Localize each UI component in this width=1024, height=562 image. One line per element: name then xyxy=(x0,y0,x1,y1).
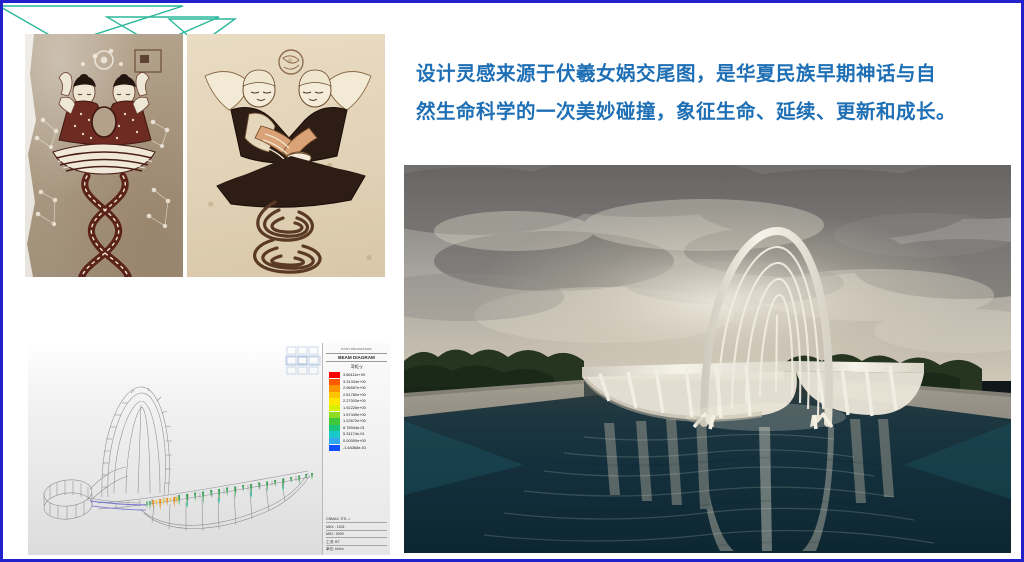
legend-band-swatch xyxy=(329,379,340,385)
legend-band: 1.57449e+00 xyxy=(329,412,390,419)
legend-band-swatch xyxy=(329,392,340,398)
legend-band-value: 3.66111e+00 xyxy=(343,372,365,378)
legend-footer-line: 工況: BT xyxy=(326,537,387,545)
legend-unit: 弯矩-y xyxy=(323,363,390,370)
slide-canvas: 设计灵感来源于伏羲女娲交尾图，是华夏民族早期神话与自 然生命科学的一次美妙碰撞，… xyxy=(0,0,1024,562)
legend-band-swatch xyxy=(329,372,340,378)
legend-band: 2.61780e+00 xyxy=(329,392,390,399)
legend-band-value: 0.00000e+00 xyxy=(343,438,366,444)
legend-band-swatch xyxy=(329,412,340,418)
legend-band-swatch xyxy=(329,418,340,424)
legend-footer-line: MIN : 3099 xyxy=(326,530,387,538)
legend-title: POST PROCESSOR xyxy=(323,343,390,352)
legend-band-value: 3.31334e+00 xyxy=(343,379,366,385)
legend-band: 8.78944e-01 xyxy=(329,425,390,432)
legend-band-value: 2.96557e+00 xyxy=(343,385,366,391)
legend-footer-line: MAX : 1631 xyxy=(326,522,387,530)
legend-band: 5.31174e-01 xyxy=(329,431,390,438)
painting-fuxi-nuwa-paper xyxy=(187,34,385,277)
painting-row xyxy=(25,34,385,277)
legend-band: 2.96557e+00 xyxy=(329,385,390,392)
painting-fuxi-nuwa-silk xyxy=(25,34,183,277)
legend-band: 0.00000e+00 xyxy=(329,438,390,445)
legend-footer-line: 单位: kN/m xyxy=(326,545,387,553)
legend-footer: CBMAX: STL =MAX : 1631MIN : 3099工況: BT单位… xyxy=(326,516,387,553)
view-orientation-cube[interactable] xyxy=(285,344,321,386)
legend-band-list: 3.66111e+003.31334e+002.96557e+002.61780… xyxy=(329,372,390,451)
legend-band-value: 8.78944e-01 xyxy=(343,425,365,431)
legend-band-swatch xyxy=(329,438,340,444)
headline-line-2: 然生命科学的一次美妙碰撞，象征生命、延续、更新和成长。 xyxy=(416,93,1016,131)
legend-band-value: 2.61780e+00 xyxy=(343,392,366,398)
legend-band: 2.27003e+00 xyxy=(329,398,390,405)
legend-band-value: 2.27003e+00 xyxy=(343,398,366,404)
legend-band-value: 1.57449e+00 xyxy=(343,412,366,418)
legend-subtitle: BEAM DIAGRAM xyxy=(326,353,387,362)
legend-band-swatch xyxy=(329,398,340,404)
legend-band-value: 1.22672e+00 xyxy=(343,418,366,424)
beam-diagram-panel: POST PROCESSOR BEAM DIAGRAM 弯矩-y 3.66111… xyxy=(28,343,390,555)
legend-band-swatch xyxy=(329,431,340,437)
legend-band-swatch xyxy=(329,385,340,391)
legend-band: 1.22672e+00 xyxy=(329,418,390,425)
legend-band-value: 1.92226e+00 xyxy=(343,405,366,411)
legend-band: 1.92226e+00 xyxy=(329,405,390,412)
beam-diagram-legend: POST PROCESSOR BEAM DIAGRAM 弯矩-y 3.66111… xyxy=(322,343,390,555)
legend-band-swatch xyxy=(329,405,340,411)
page-title: 设计灵感来源于伏羲女娲交尾图，是华夏民族早期神话与自 然生命科学的一次美妙碰撞，… xyxy=(416,55,1016,131)
legend-band: -1.64368e-01 xyxy=(329,445,390,452)
legend-band-value: -1.64368e-01 xyxy=(343,445,366,451)
legend-band-swatch xyxy=(329,425,340,431)
legend-band-swatch xyxy=(329,445,340,451)
legend-band-value: 5.31174e-01 xyxy=(343,431,365,437)
headline-line-1: 设计灵感来源于伏羲女娲交尾图，是华夏民族早期神话与自 xyxy=(416,55,1016,93)
legend-band: 3.31334e+00 xyxy=(329,379,390,386)
legend-band: 3.66111e+00 xyxy=(329,372,390,379)
bridge-night-render xyxy=(404,165,1011,553)
